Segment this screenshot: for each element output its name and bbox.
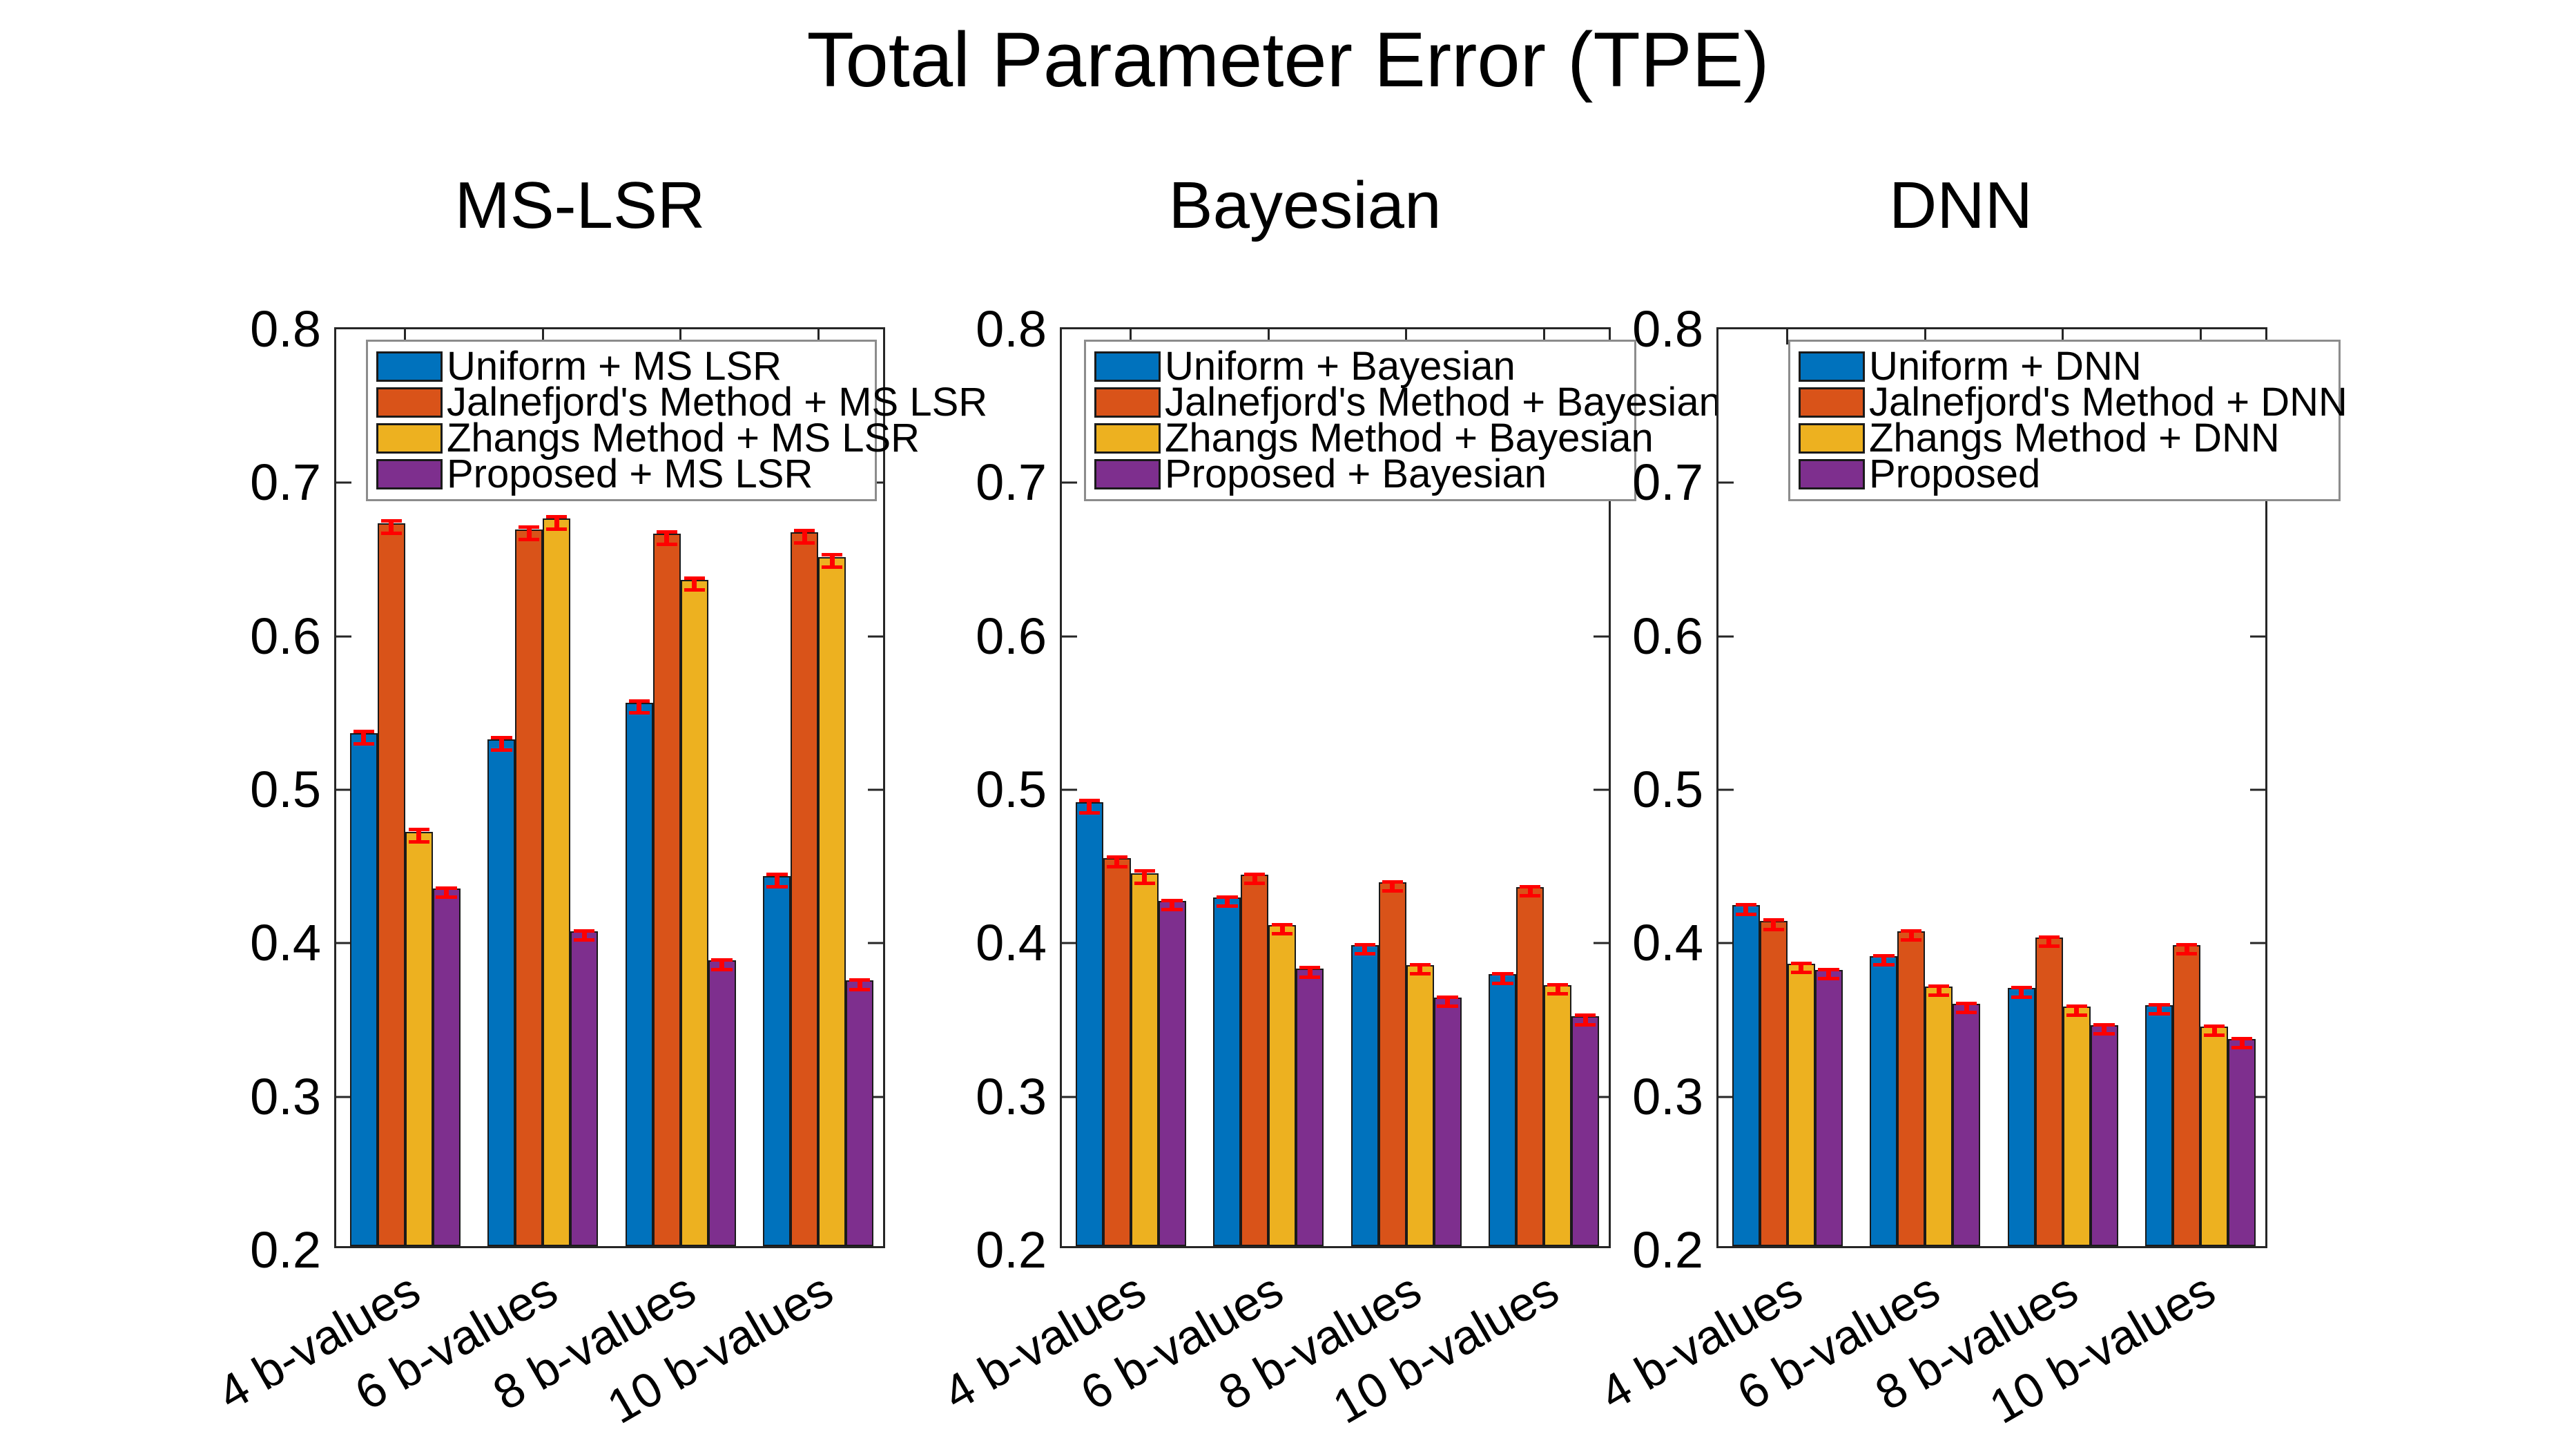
error-bar-cap xyxy=(2176,943,2197,946)
error-bar-cap xyxy=(519,538,539,541)
bar xyxy=(1213,897,1241,1246)
legend-swatch-icon xyxy=(1094,423,1161,454)
legend-swatch-icon xyxy=(1094,351,1161,382)
y-tick-label: 0.3 xyxy=(976,1071,1047,1123)
bar xyxy=(1159,901,1186,1246)
bar xyxy=(1434,998,1462,1246)
error-bar-cap xyxy=(1244,882,1265,885)
bar xyxy=(1897,931,1925,1246)
bar xyxy=(543,518,570,1246)
error-bar-cap xyxy=(1410,963,1431,967)
y-tick-label: 0.5 xyxy=(1632,764,1703,815)
error-bar-cap xyxy=(2066,1013,2087,1017)
legend-item[interactable]: Proposed xyxy=(1799,456,2329,492)
error-bar-cap xyxy=(794,529,815,532)
bar xyxy=(405,832,433,1246)
error-bar-cap xyxy=(1217,904,1237,908)
error-bar-cap xyxy=(1410,972,1431,975)
error-bar-cap xyxy=(1134,882,1155,885)
bar xyxy=(2063,1007,2091,1246)
legend-label: Proposed xyxy=(1869,454,2040,494)
error-bar-cap xyxy=(491,748,512,752)
bar xyxy=(1489,974,1516,1246)
bar xyxy=(1788,964,1815,1246)
bar xyxy=(2008,988,2035,1246)
legend-swatch-icon xyxy=(1799,423,1865,454)
error-bar-cap xyxy=(2093,1032,2114,1036)
y-tick-label: 0.2 xyxy=(250,1225,321,1276)
error-bar-cap xyxy=(629,699,650,703)
bar xyxy=(1925,987,1953,1246)
error-bar-cap xyxy=(1355,943,1375,946)
y-tickmark xyxy=(868,789,883,791)
error-bar-cap xyxy=(381,532,402,535)
bar xyxy=(626,703,653,1246)
error-bar-cap xyxy=(1107,855,1127,859)
y-tickmark xyxy=(1062,789,1077,791)
y-tick-label: 0.4 xyxy=(250,917,321,969)
error-bar-cap xyxy=(1791,971,1812,974)
y-tick-label: 0.8 xyxy=(976,304,1047,355)
bar xyxy=(653,534,681,1246)
legend-item[interactable]: Proposed + MS LSR xyxy=(376,456,865,492)
bar xyxy=(1815,970,1843,1246)
legend-swatch-icon xyxy=(1799,387,1865,418)
y-tickmark xyxy=(336,789,351,791)
error-bar-cap xyxy=(849,988,870,991)
y-tick-label: 0.7 xyxy=(1632,457,1703,508)
bar xyxy=(378,523,405,1246)
y-tickmark xyxy=(336,482,351,484)
error-bar-cap xyxy=(1547,983,1568,987)
error-bar-cap xyxy=(1134,869,1155,873)
error-bar-cap xyxy=(1873,963,1894,967)
error-bar-cap xyxy=(2039,935,2060,939)
error-bar-cap xyxy=(2231,1037,2252,1040)
error-bar-cap xyxy=(436,886,456,890)
error-bar-cap xyxy=(436,895,456,899)
subplot-title-dnn: DNN xyxy=(1629,173,2292,239)
error-bar-cap xyxy=(1928,984,1949,988)
legend-swatch-icon xyxy=(376,351,443,382)
bar xyxy=(1103,858,1131,1247)
y-tickmark xyxy=(1594,942,1609,944)
error-bar-cap xyxy=(1791,962,1812,965)
legend-swatch-icon xyxy=(1094,387,1161,418)
error-bar-cap xyxy=(519,525,539,529)
bar xyxy=(2173,945,2200,1246)
error-bar-cap xyxy=(1520,894,1540,897)
error-bar-cap xyxy=(1382,889,1403,893)
y-tickmark xyxy=(1718,1096,1734,1098)
legend-label: Proposed + MS LSR xyxy=(447,454,813,494)
error-bar-cap xyxy=(657,543,677,546)
error-bar-cap xyxy=(1299,966,1320,969)
error-bar-cap xyxy=(711,958,732,962)
error-bar-cap xyxy=(1818,968,1839,971)
subplot-title-bayesian: Bayesian xyxy=(974,173,1636,239)
error-bar-cap xyxy=(822,553,842,556)
y-tickmark xyxy=(1062,942,1077,944)
legend-0[interactable]: Uniform + MS LSRJalnefjord's Method + MS… xyxy=(366,340,877,501)
y-tick-label: 0.3 xyxy=(250,1071,321,1123)
error-bar-cap xyxy=(1107,865,1127,868)
y-tickmark xyxy=(1062,482,1077,484)
y-tickmark xyxy=(1594,789,1609,791)
bar xyxy=(1760,921,1788,1246)
figure-canvas: Total Parameter Error (TPE) MS-LSR Bayes… xyxy=(0,0,2576,1414)
bar xyxy=(2091,1025,2118,1246)
bar xyxy=(1296,969,1324,1246)
error-bar-cap xyxy=(546,515,567,518)
error-bar-cap xyxy=(1079,811,1100,815)
bar xyxy=(1076,802,1103,1246)
error-bar-cap xyxy=(2204,1033,2225,1037)
bar xyxy=(2145,1005,2173,1246)
error-bar-cap xyxy=(1901,929,1921,933)
error-bar-cap xyxy=(766,885,787,888)
bar xyxy=(2200,1027,2228,1246)
error-bar-cap xyxy=(381,519,402,523)
error-bar-cap xyxy=(409,840,429,844)
error-bar-cap xyxy=(2066,1004,2087,1008)
error-bar-cap xyxy=(1873,954,1894,958)
bar xyxy=(791,532,818,1246)
error-bar-cap xyxy=(1437,1004,1458,1008)
error-bar-cap xyxy=(1272,932,1292,935)
y-tick-label: 0.3 xyxy=(1632,1071,1703,1123)
legend-label: Proposed + Bayesian xyxy=(1165,454,1547,494)
y-tick-label: 0.4 xyxy=(976,917,1047,969)
y-tickmark xyxy=(336,942,351,944)
error-bar-cap xyxy=(1161,908,1182,911)
bar xyxy=(1870,956,1897,1246)
y-tick-label: 0.6 xyxy=(1632,611,1703,662)
y-tick-label: 0.5 xyxy=(250,764,321,815)
y-tickmark xyxy=(336,635,351,637)
legend-item[interactable]: Proposed + Bayesian xyxy=(1094,456,1625,492)
bar xyxy=(2228,1039,2256,1246)
error-bar-cap xyxy=(1818,977,1839,980)
error-bar-cap xyxy=(1520,885,1540,888)
bar xyxy=(818,557,846,1246)
bar xyxy=(1953,1004,1980,1246)
y-tick-label: 0.2 xyxy=(976,1225,1047,1276)
y-tick-label: 0.7 xyxy=(976,457,1047,508)
bar xyxy=(681,580,708,1246)
bar xyxy=(433,888,461,1246)
bar xyxy=(570,931,598,1246)
error-bar-cap xyxy=(684,588,705,592)
bar xyxy=(1268,925,1296,1246)
error-bar-cap xyxy=(1575,1023,1596,1027)
y-tickmark xyxy=(1062,1096,1077,1098)
error-bar-cap xyxy=(1217,895,1237,899)
legend-1[interactable]: Uniform + BayesianJalnefjord's Method + … xyxy=(1084,340,1636,501)
error-bar-cap xyxy=(2231,1046,2252,1049)
error-bar-cap xyxy=(546,527,567,531)
y-tickmark xyxy=(1718,482,1734,484)
error-bar-cap xyxy=(2204,1024,2225,1028)
y-tickmark xyxy=(336,1096,351,1098)
error-bar-cap xyxy=(849,978,870,982)
error-bar-cap xyxy=(1928,993,1949,997)
y-tickmark xyxy=(2250,789,2265,791)
y-tickmark xyxy=(868,942,883,944)
y-tick-label: 0.5 xyxy=(976,764,1047,815)
error-bar-cap xyxy=(1355,952,1375,955)
y-tickmark xyxy=(2250,635,2265,637)
bar xyxy=(2035,938,2063,1246)
bar xyxy=(1406,965,1434,1246)
bar xyxy=(846,980,873,1246)
bar xyxy=(515,530,543,1246)
error-bar-cap xyxy=(822,565,842,569)
error-bar-cap xyxy=(1956,1002,1977,1005)
error-bar-cap xyxy=(1272,923,1292,926)
error-bar-cap xyxy=(766,873,787,876)
legend-swatch-icon xyxy=(1799,351,1865,382)
error-bar-cap xyxy=(1547,992,1568,996)
error-bar-cap xyxy=(1079,799,1100,802)
error-bar-cap xyxy=(1956,1011,1977,1014)
legend-2[interactable]: Uniform + DNNJalnefjord's Method + DNNZh… xyxy=(1788,340,2341,501)
error-bar-cap xyxy=(2093,1023,2114,1027)
bar xyxy=(1131,873,1159,1246)
error-bar-cap xyxy=(2149,1003,2169,1007)
legend-swatch-icon xyxy=(376,387,443,418)
y-tickmark xyxy=(2250,942,2265,944)
subplot-title-ms-lsr: MS-LSR xyxy=(249,173,911,239)
bar xyxy=(487,739,515,1246)
error-bar-cap xyxy=(574,929,594,933)
bar xyxy=(1571,1016,1599,1247)
error-bar-cap xyxy=(1244,873,1265,876)
bar xyxy=(1351,945,1379,1246)
bar xyxy=(1516,887,1544,1246)
error-bar-cap xyxy=(684,576,705,580)
y-tickmark xyxy=(1718,789,1734,791)
y-tick-label: 0.8 xyxy=(1632,304,1703,355)
error-bar-cap xyxy=(1161,899,1182,902)
y-tickmark xyxy=(1718,942,1734,944)
error-bar-cap xyxy=(2149,1012,2169,1016)
legend-swatch-icon xyxy=(1094,459,1161,489)
y-tick-label: 0.8 xyxy=(250,304,321,355)
error-bar-cap xyxy=(1575,1013,1596,1017)
error-bar-cap xyxy=(409,828,429,831)
error-bar-cap xyxy=(354,730,374,733)
y-tick-label: 0.2 xyxy=(1632,1225,1703,1276)
error-bar-cap xyxy=(1299,975,1320,979)
error-bar-cap xyxy=(629,711,650,715)
error-bar-cap xyxy=(1736,913,1756,916)
error-bar-cap xyxy=(2176,952,2197,955)
y-tick-label: 0.7 xyxy=(250,457,321,508)
legend-swatch-icon xyxy=(376,423,443,454)
error-bar-cap xyxy=(574,938,594,942)
error-bar-cap xyxy=(657,530,677,534)
y-tickmark xyxy=(1594,635,1609,637)
y-tick-label: 0.4 xyxy=(1632,917,1703,969)
y-tick-label: 0.6 xyxy=(976,611,1047,662)
error-bar-cap xyxy=(1736,903,1756,906)
error-bar-cap xyxy=(354,742,374,746)
error-bar-cap xyxy=(1763,928,1784,931)
error-bar-cap xyxy=(1382,880,1403,884)
y-tickmark xyxy=(1062,635,1077,637)
bar xyxy=(1241,875,1268,1246)
bar xyxy=(1544,985,1571,1246)
legend-swatch-icon xyxy=(376,459,443,489)
legend-swatch-icon xyxy=(1799,459,1865,489)
error-bar-cap xyxy=(1763,918,1784,922)
bar xyxy=(763,876,791,1246)
bar xyxy=(1379,882,1406,1246)
figure-title: Total Parameter Error (TPE) xyxy=(0,19,2576,101)
error-bar-cap xyxy=(1901,938,1921,942)
error-bar-cap xyxy=(1492,972,1513,975)
y-tickmark xyxy=(868,635,883,637)
bar xyxy=(1732,905,1760,1246)
error-bar-cap xyxy=(1492,982,1513,985)
bar xyxy=(350,733,378,1246)
error-bar-cap xyxy=(2011,996,2032,999)
error-bar-cap xyxy=(794,541,815,545)
error-bar-cap xyxy=(1437,996,1458,999)
error-bar-cap xyxy=(2039,944,2060,948)
bar xyxy=(708,960,736,1246)
error-bar-cap xyxy=(491,736,512,739)
y-tickmark xyxy=(1718,635,1734,637)
error-bar-cap xyxy=(2011,986,2032,989)
error-bar-cap xyxy=(711,968,732,971)
y-tick-label: 0.6 xyxy=(250,611,321,662)
